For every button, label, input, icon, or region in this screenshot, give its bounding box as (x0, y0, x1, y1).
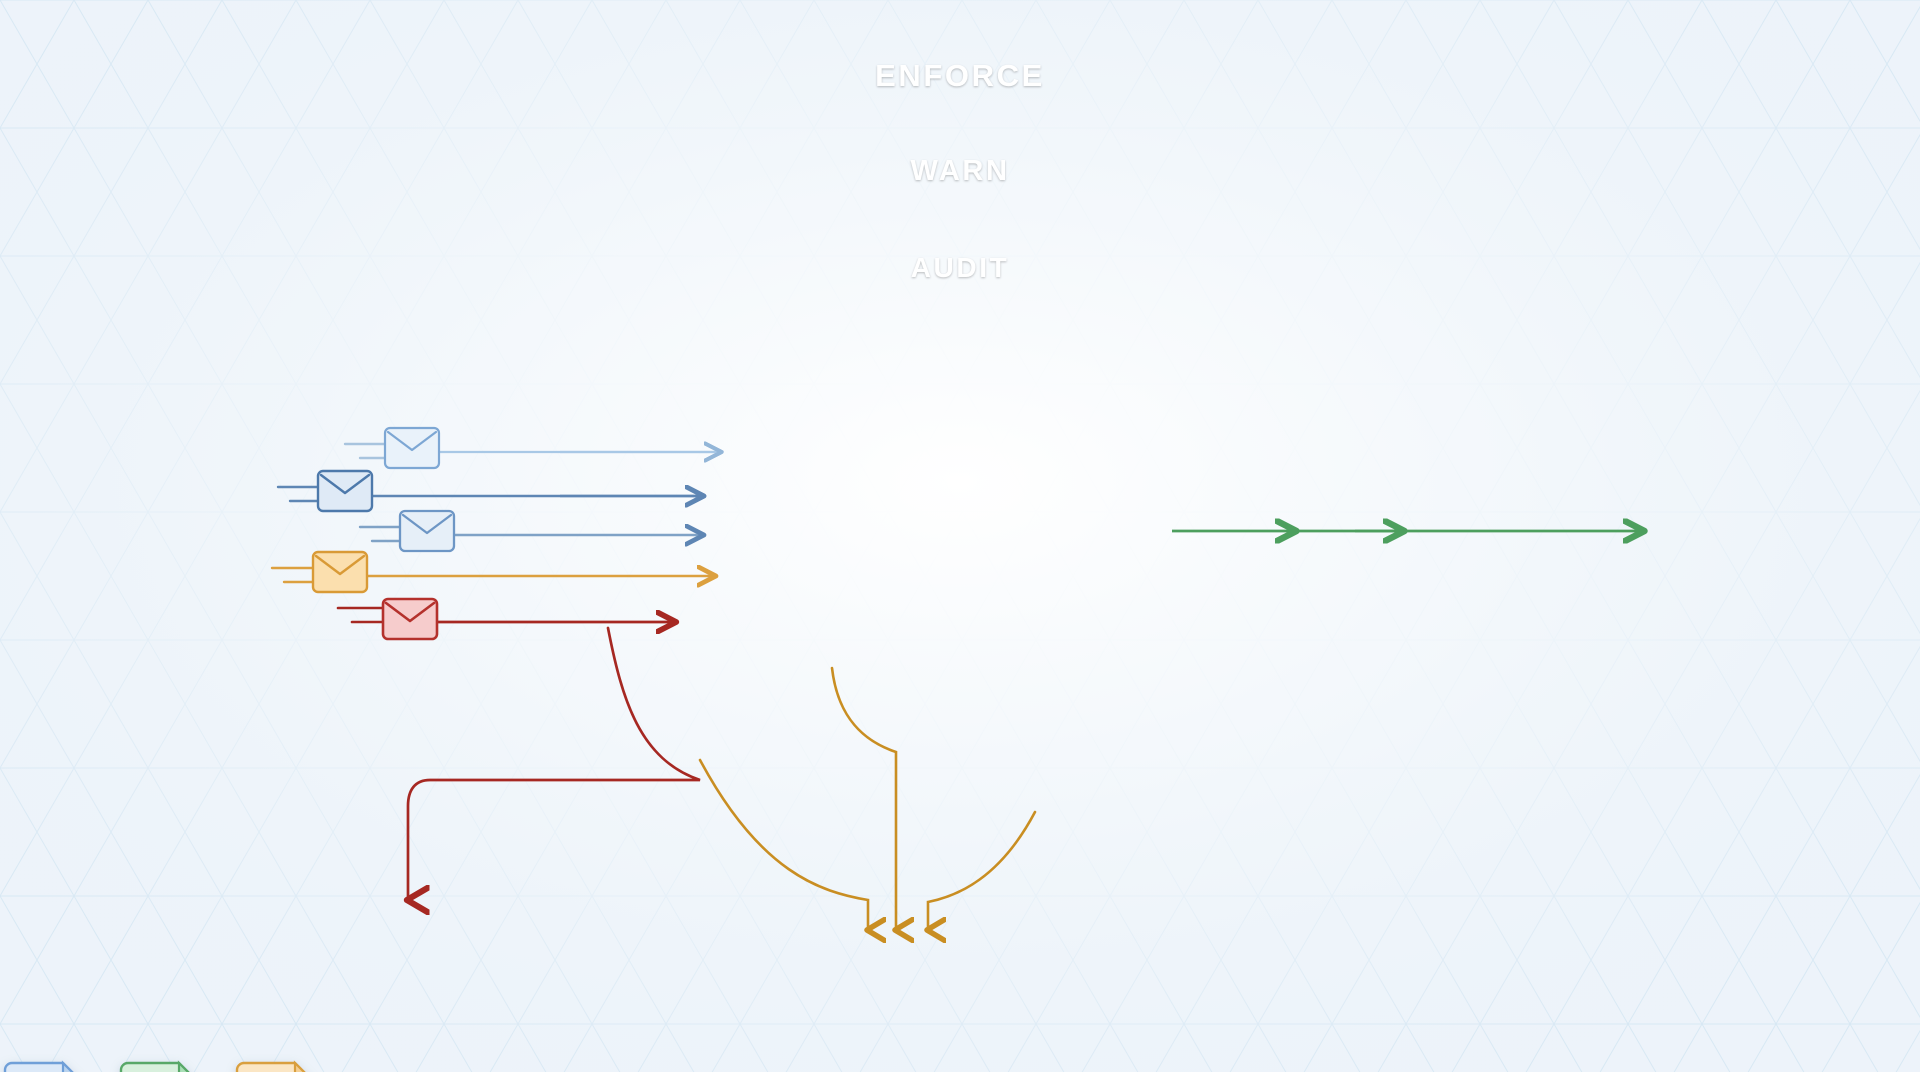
envelope-icon-2 (318, 471, 372, 511)
diagram-canvas: ENFORCE WARN AUDIT (0, 0, 1920, 1072)
inbound-envelopes (0, 0, 1920, 1072)
envelope-icon-4-review (313, 552, 367, 592)
envelope-icon-3 (400, 511, 454, 551)
envelope-icon-5-blocked (383, 599, 437, 639)
envelope-icon-1 (385, 428, 439, 468)
